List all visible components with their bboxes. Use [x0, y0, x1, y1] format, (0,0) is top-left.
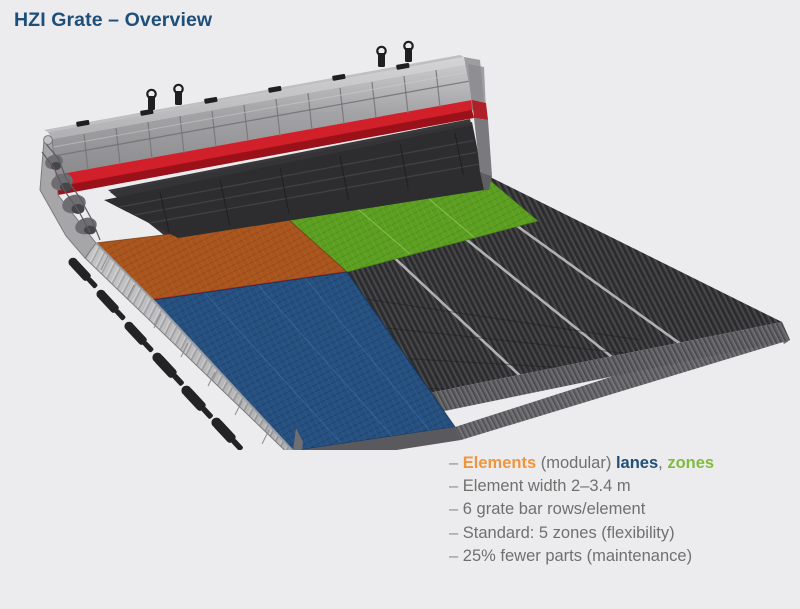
bullet-dash: –	[449, 500, 458, 518]
caption-text: 6 grate bar rows/element	[463, 500, 646, 518]
caption-line-zones: – Standard: 5 zones (flexibility)	[449, 522, 795, 545]
caption-text: Element width 2–3.4 m	[463, 477, 631, 495]
caption-line-width: – Element width 2–3.4 m	[449, 475, 795, 498]
caption-line-rows: – 6 grate bar rows/element	[449, 498, 795, 521]
slide-canvas: HZI Grate – Overview	[0, 0, 800, 609]
bullet-dash: –	[449, 524, 458, 542]
caption-text: Standard: 5 zones (flexibility)	[463, 524, 675, 542]
bullet-dash: –	[449, 547, 458, 565]
bullet-dash: –	[449, 454, 458, 472]
grate-illustration	[0, 40, 800, 450]
caption-separator: ,	[658, 454, 667, 472]
page-title: HZI Grate – Overview	[14, 9, 212, 32]
caption-text: 25% fewer parts (maintenance)	[463, 547, 692, 565]
caption-line-elements: – Elements (modular) lanes, zones	[449, 452, 795, 475]
keyword-elements: Elements	[463, 454, 536, 472]
caption-line-parts: – 25% fewer parts (maintenance)	[449, 545, 795, 568]
caption-list: – Elements (modular) lanes, zones – Elem…	[449, 452, 795, 568]
bullet-dash: –	[449, 477, 458, 495]
keyword-zones: zones	[667, 454, 714, 472]
caption-text-modular: (modular)	[536, 454, 616, 472]
keyword-lanes: lanes	[616, 454, 658, 472]
